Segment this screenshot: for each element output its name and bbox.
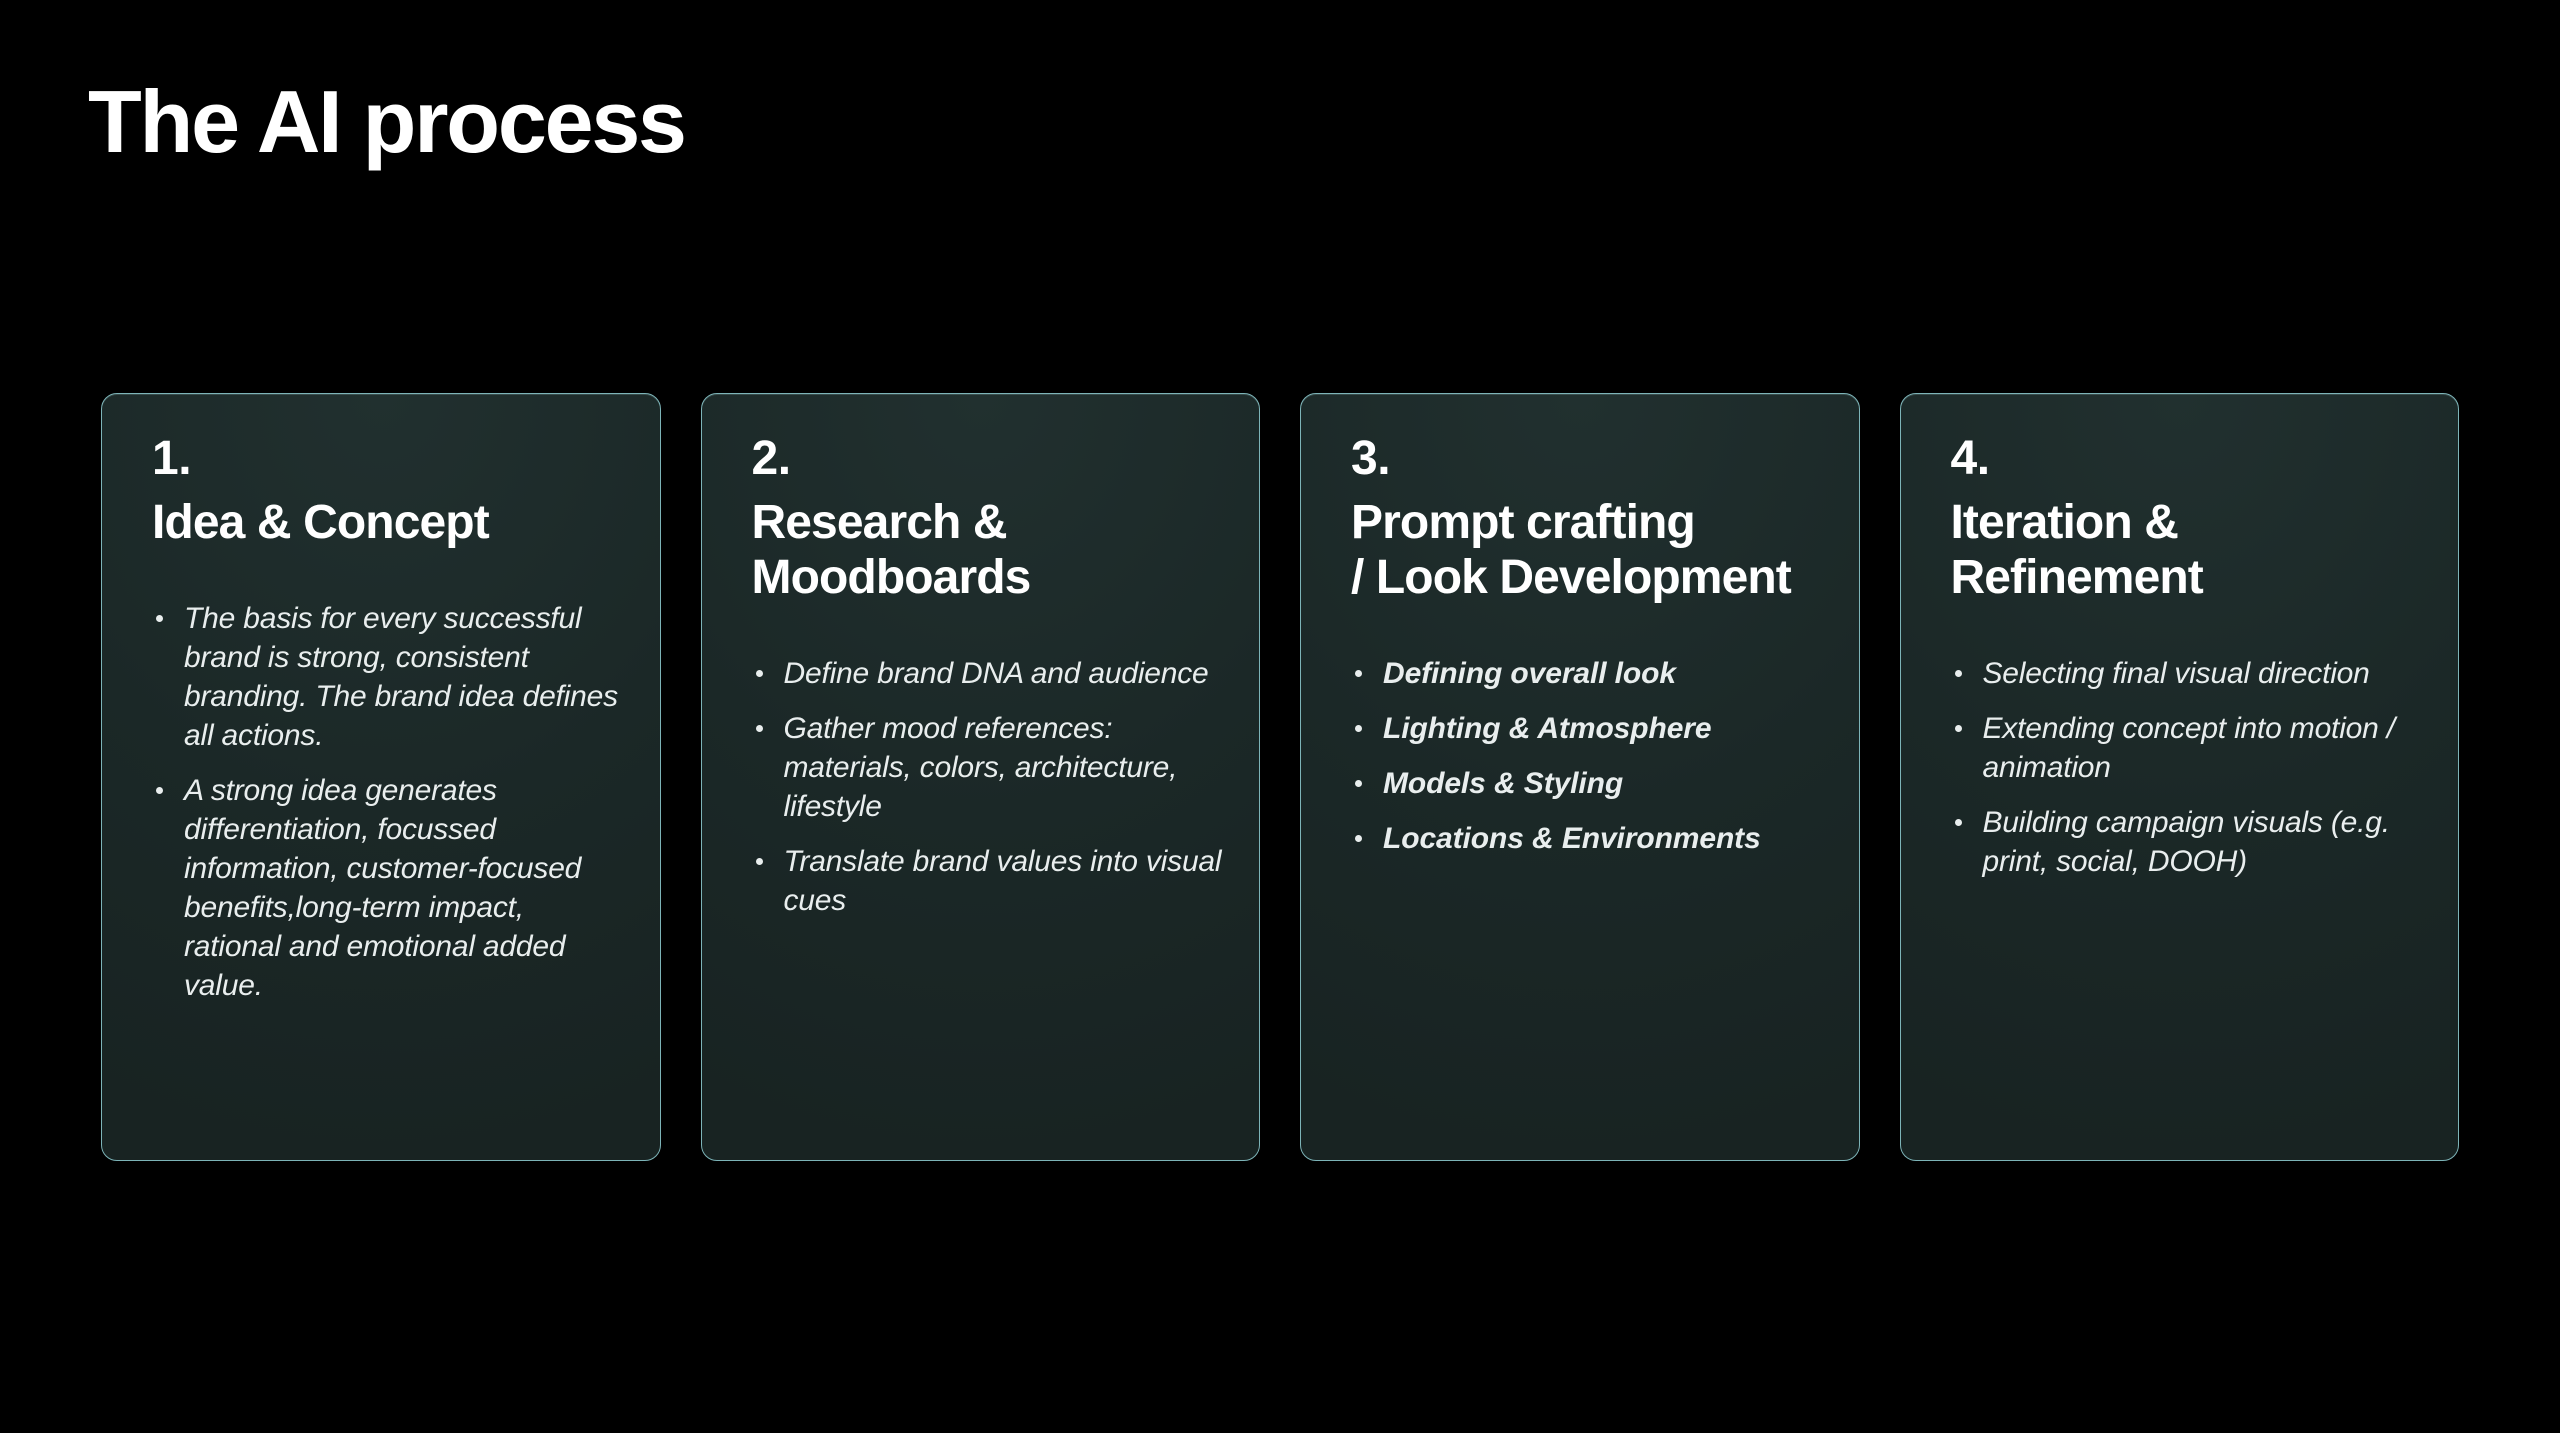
page-title: The AI process xyxy=(88,76,685,168)
list-item: Lighting & Atmosphere xyxy=(1351,709,1823,748)
list-item: Selecting final visual direction xyxy=(1951,654,2423,693)
card-heading-2: Research & Moodboards xyxy=(752,496,1224,605)
list-item: The basis for every successful brand is … xyxy=(152,599,624,755)
process-card-row: 1. Idea & Concept The basis for every su… xyxy=(101,393,2459,1161)
list-item: Extending concept into motion / animatio… xyxy=(1951,709,2423,787)
card-heading-4: Iteration & Refinement xyxy=(1951,496,2423,605)
card-heading-3: Prompt crafting / Look Development xyxy=(1351,496,1823,605)
list-item: Define brand DNA and audience xyxy=(752,654,1224,693)
card-number-2: 2. xyxy=(752,434,1224,484)
card-bullet-list-4: Selecting final visual direction Extendi… xyxy=(1951,654,2423,881)
card-number-1: 1. xyxy=(152,434,624,484)
card-bullet-list-3: Defining overall look Lighting & Atmosph… xyxy=(1351,654,1823,858)
card-bullet-list-2: Define brand DNA and audience Gather moo… xyxy=(752,654,1224,920)
list-item: Building campaign visuals (e.g. print, s… xyxy=(1951,803,2423,881)
list-item: Defining overall look xyxy=(1351,654,1823,693)
process-card-1[interactable]: 1. Idea & Concept The basis for every su… xyxy=(101,393,661,1161)
process-card-2[interactable]: 2. Research & Moodboards Define brand DN… xyxy=(701,393,1261,1161)
process-card-3[interactable]: 3. Prompt crafting / Look Development De… xyxy=(1300,393,1860,1161)
list-item: Gather mood references: materials, color… xyxy=(752,709,1224,826)
process-card-4[interactable]: 4. Iteration & Refinement Selecting fina… xyxy=(1900,393,2460,1161)
list-item: Translate brand values into visual cues xyxy=(752,842,1224,920)
card-number-4: 4. xyxy=(1951,434,2423,484)
slide-canvas: The AI process 1. Idea & Concept The bas… xyxy=(0,0,2560,1433)
card-number-3: 3. xyxy=(1351,434,1823,484)
list-item: A strong idea generates differentiation,… xyxy=(152,771,624,1005)
card-heading-1: Idea & Concept xyxy=(152,496,624,551)
list-item: Locations & Environments xyxy=(1351,819,1823,858)
list-item: Models & Styling xyxy=(1351,764,1823,803)
card-bullet-list-1: The basis for every successful brand is … xyxy=(152,599,624,1005)
